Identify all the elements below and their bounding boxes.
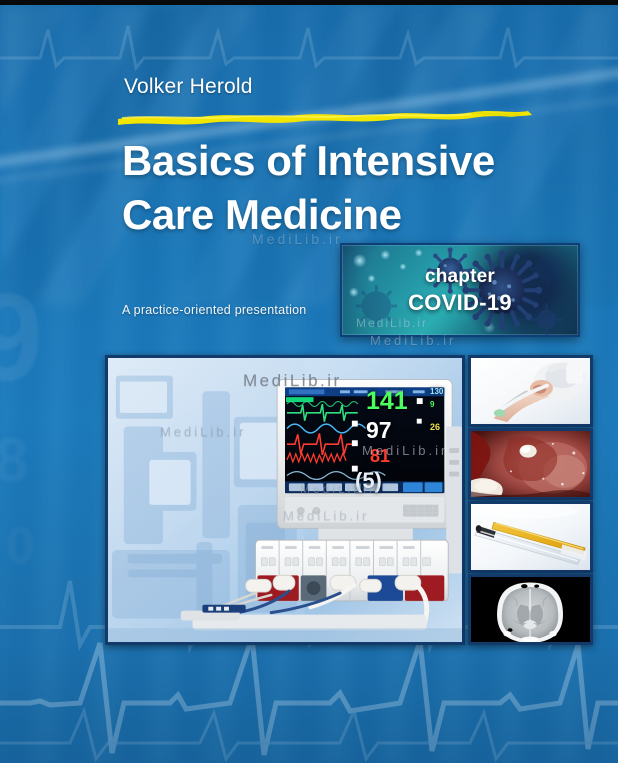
covid-topic-label: COVID-19: [342, 290, 578, 316]
monitor-small-value-3: 26: [430, 423, 440, 432]
side-photo-airway-intubation: [468, 355, 593, 427]
endoscopy-graphic: [471, 431, 590, 497]
monitor-small-value-1: 130: [430, 388, 443, 396]
book-cover: 9 8 0 Volker Herold Basics of Intensive …: [0, 0, 618, 763]
bottom-vignette: [0, 643, 618, 763]
title-line-2: Care Medicine: [122, 188, 582, 242]
side-photo-endoscopic-view: [468, 428, 593, 500]
head-ct-graphic: [471, 577, 590, 642]
title-line-1: Basics of Intensive: [122, 137, 495, 184]
monitor-parenthetical-value: (5): [355, 470, 382, 492]
photo-collage: 141 97 81 (5) 130 9 26: [105, 355, 593, 645]
side-photo-catheter-instruments: [468, 501, 593, 573]
airway-manikin-graphic: [471, 358, 590, 424]
monitor-blood-pressure: 81: [370, 447, 390, 465]
covid-chapter-label: chapter: [342, 266, 578, 288]
monitor-small-value-2: 9: [430, 401, 434, 409]
main-photo-icu-monitor: 141 97 81 (5) 130 9 26: [105, 355, 465, 645]
icu-scene-graphic: [108, 358, 462, 642]
monitor-spo2: 97: [366, 419, 392, 442]
covid-badge-watermark: MediLib.ir: [356, 316, 428, 330]
top-black-bar: [0, 0, 618, 5]
background-ecg-trace-top: [0, 8, 618, 78]
yellow-highlight-rule: [116, 106, 536, 128]
catheter-graphic: [471, 504, 590, 570]
background-ghost-numeral: 9: [0, 276, 39, 400]
side-photo-head-ct-scan: [468, 574, 593, 645]
monitor-heart-rate: 141: [366, 389, 408, 414]
covid-19-chapter-badge: chapter COVID-19 MediLib.ir: [340, 243, 580, 337]
book-subtitle: A practice-oriented presentation: [122, 303, 307, 317]
covid-badge-text: chapter COVID-19: [342, 266, 578, 316]
background-ghost-numeral-secondary: 8: [0, 430, 28, 492]
author-name: Volker Herold: [124, 75, 253, 99]
book-title: Basics of Intensive Care Medicine: [122, 134, 582, 242]
